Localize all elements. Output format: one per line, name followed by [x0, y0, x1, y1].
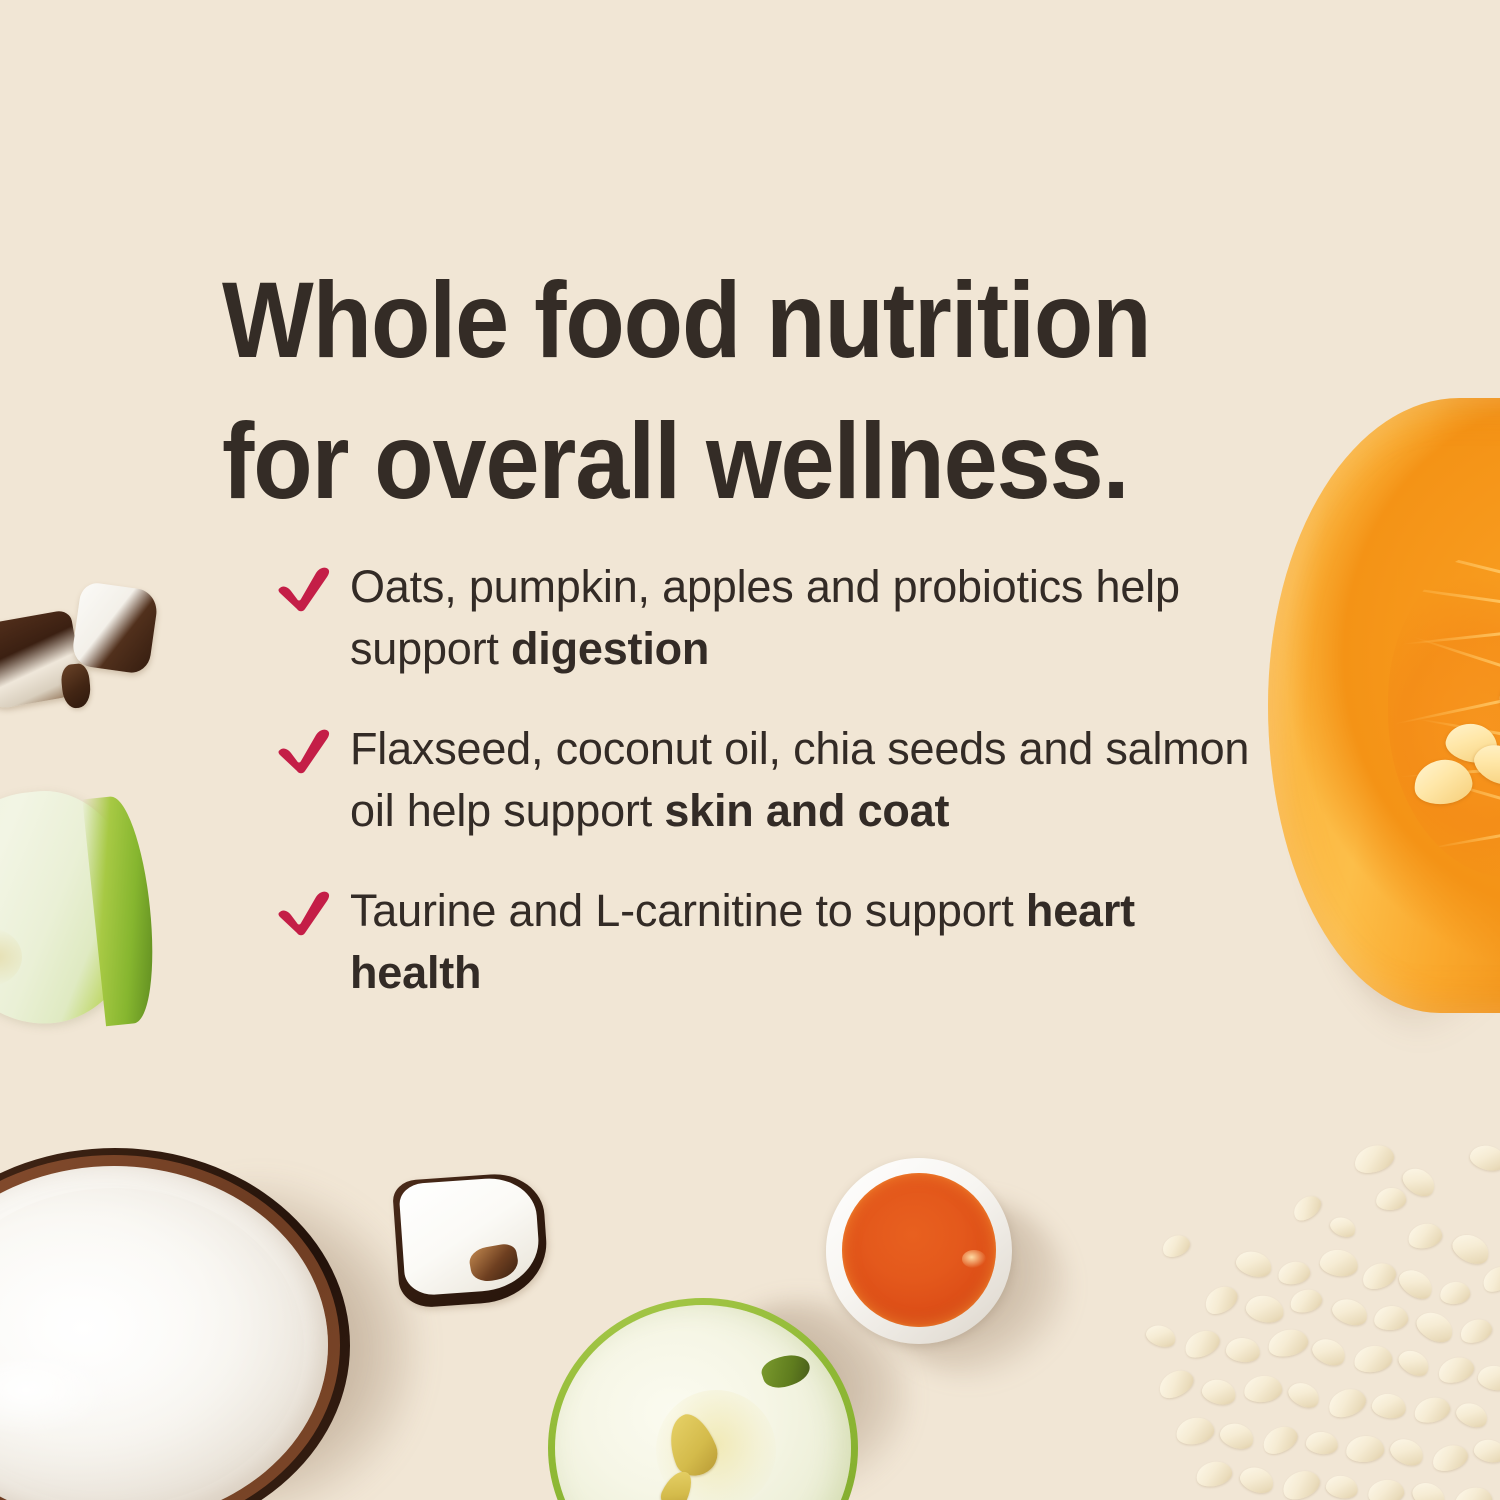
benefit-text: Oats, pumpkin, apples and probiotics hel… — [350, 561, 1180, 674]
benefit-list: Oats, pumpkin, apples and probiotics hel… — [276, 556, 1266, 1005]
coconut-wedge-image — [396, 1176, 556, 1316]
coconut-chunk — [60, 663, 92, 710]
bowl-oil-highlight — [962, 1250, 986, 1268]
salmon-oil-bowl-image — [826, 1158, 1026, 1358]
coconut-chunk — [71, 581, 160, 675]
apple-slice-image — [0, 792, 148, 1032]
benefit-text: Flaxseed, coconut oil, chia seeds and sa… — [350, 723, 1249, 836]
rolled-oats-image — [1140, 1140, 1500, 1500]
page-title: Whole food nutrition for overall wellnes… — [222, 250, 1203, 531]
list-item: Taurine and L-carnitine to support heart… — [276, 880, 1266, 1004]
benefit-text: Taurine and L-carnitine to support heart… — [350, 885, 1135, 998]
promo-banner: Whole food nutrition for overall wellnes… — [0, 0, 1500, 1500]
list-item: Flaxseed, coconut oil, chia seeds and sa… — [276, 718, 1266, 842]
pumpkin-half-image — [1268, 398, 1500, 1018]
check-icon — [276, 886, 332, 938]
check-icon — [276, 562, 332, 614]
check-icon — [276, 724, 332, 776]
list-item: Oats, pumpkin, apples and probiotics hel… — [276, 556, 1266, 680]
apple-half-image — [548, 1298, 868, 1500]
coconut-chunks-image — [0, 572, 190, 742]
coconut-half-image — [0, 1148, 360, 1500]
